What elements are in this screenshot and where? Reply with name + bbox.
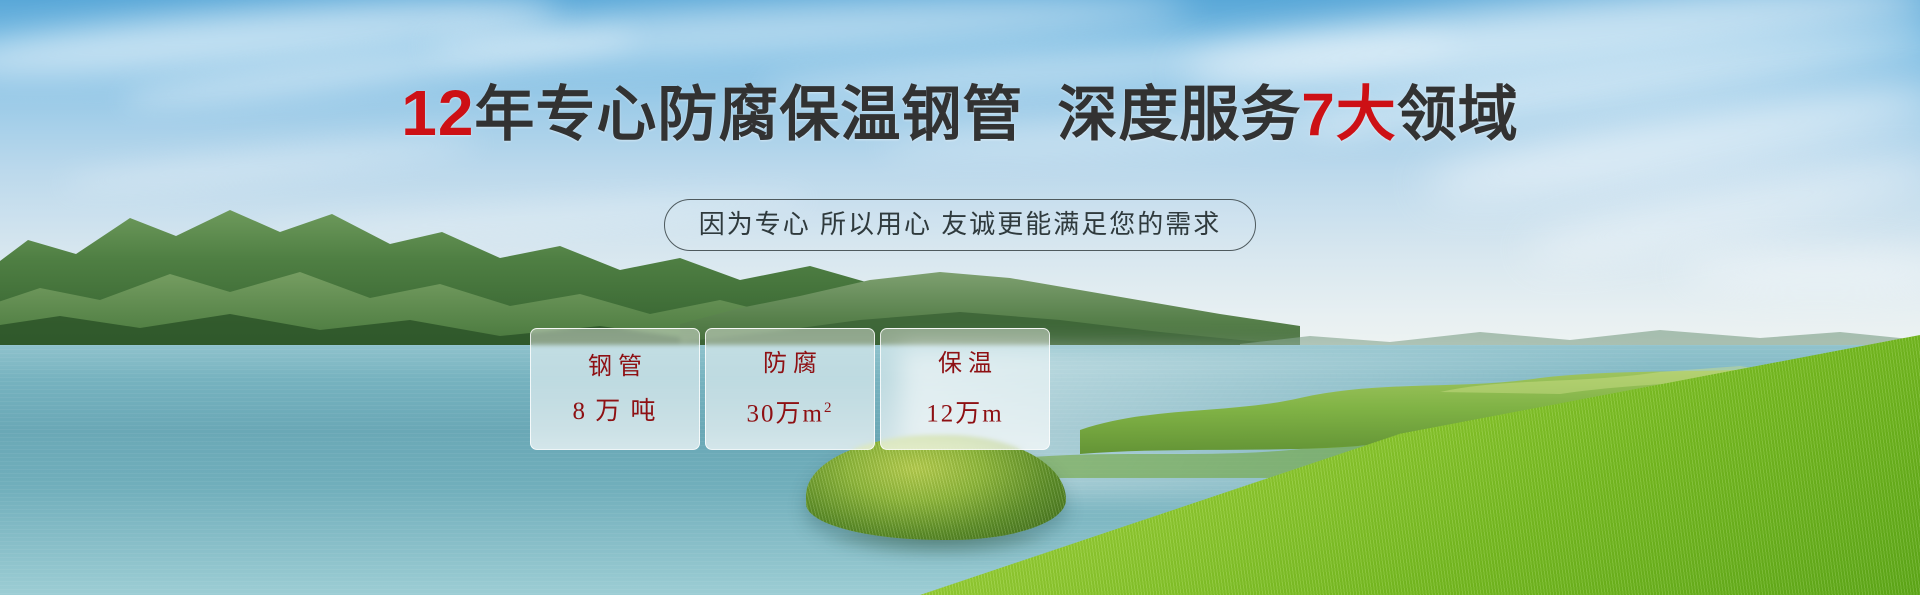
subtitle-row: 因为专心 所以用心 友诚更能满足您的需求 [0, 199, 1920, 251]
stat-card-anticorrosion[interactable]: 防腐 30万m2 [705, 328, 875, 450]
stat-card-insulation[interactable]: 保温 12万m [880, 328, 1050, 450]
headline-years-number: 12 [401, 77, 474, 149]
headline-fields-number: 7大 [1301, 81, 1396, 148]
stat-card-value-main: 12万m [926, 400, 1003, 427]
stat-card-title: 保温 [932, 351, 998, 377]
stat-card-value: 30万m2 [747, 395, 834, 427]
stat-card-steel-pipe[interactable]: 钢管 8 万 吨 [530, 328, 700, 450]
subtitle-pill: 因为专心 所以用心 友诚更能满足您的需求 [664, 199, 1256, 251]
stat-card-value-superscript: 2 [824, 400, 834, 416]
headline-part-b: 深度服务 [1057, 81, 1301, 148]
stat-card-title: 钢管 [582, 354, 648, 380]
stat-card-title: 防腐 [757, 351, 823, 377]
stat-card-value: 12万m [926, 395, 1003, 427]
banner-headline: 12年专心防腐保温钢管深度服务7大领域 [0, 82, 1920, 146]
stat-card-value: 8 万 吨 [572, 398, 657, 425]
promo-banner: 12年专心防腐保温钢管深度服务7大领域 因为专心 所以用心 友诚更能满足您的需求… [0, 0, 1920, 595]
stat-card-value-main: 30万m [747, 400, 824, 427]
headline-part-a: 年专心防腐保温钢管 [474, 81, 1023, 148]
stat-card-group: 钢管 8 万 吨 防腐 30万m2 保温 12万m [530, 328, 1050, 450]
headline-part-c: 领域 [1397, 81, 1519, 148]
